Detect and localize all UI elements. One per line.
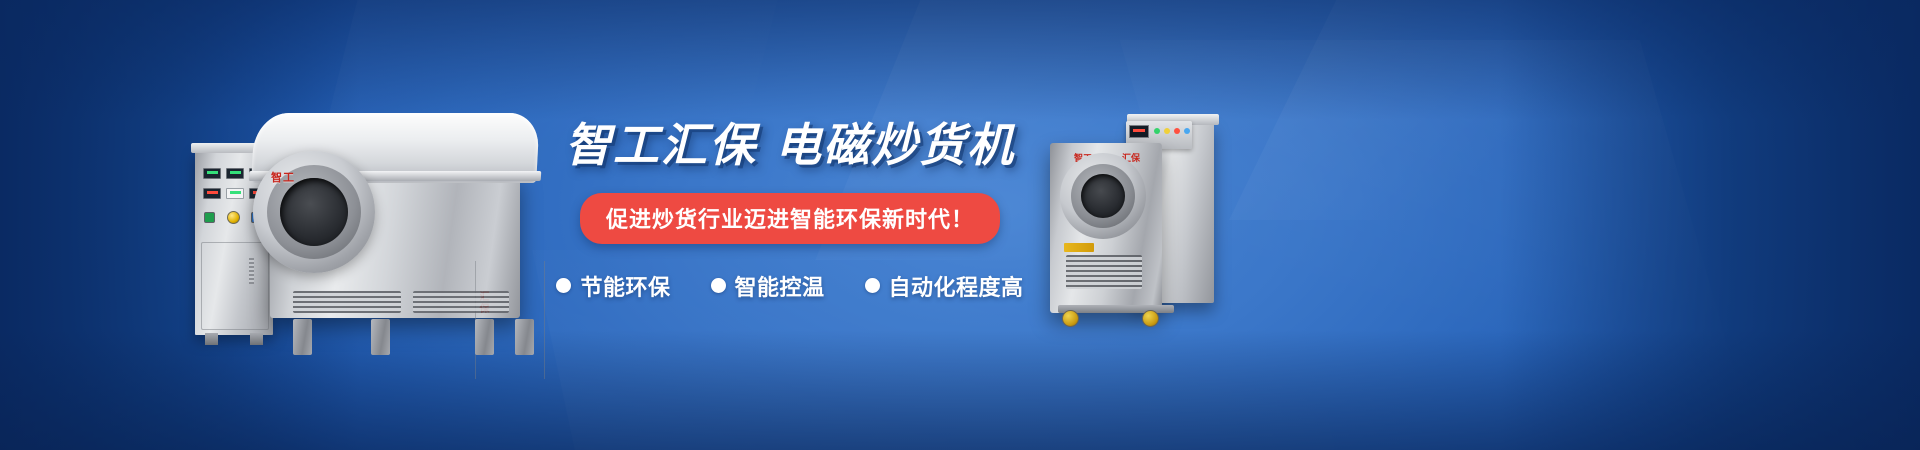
dot-bullet-icon: [711, 278, 726, 293]
promo-banner: 汇保 智工 智工 汇: [0, 0, 1920, 450]
roaster-body-right: 智工 汇保: [1050, 143, 1162, 313]
display-readout: [203, 188, 221, 199]
banner-subtitle-pill: 促进炒货行业迈进智能环保新时代！: [580, 193, 1000, 244]
display-readout: [226, 188, 244, 199]
status-led: [1174, 128, 1180, 134]
banner-title-part1: 智工汇保: [565, 119, 757, 171]
roaster-drum-opening: [1081, 174, 1125, 218]
roaster-vent: [293, 291, 401, 313]
dot-bullet-icon: [865, 278, 880, 293]
feature-item: 节能环保: [556, 270, 670, 302]
cabinet-foot: [205, 333, 218, 345]
feature-label: 智能控温: [735, 270, 825, 302]
roaster-vent: [1066, 255, 1142, 289]
cabinet-door: [201, 242, 269, 330]
roaster-drum-opening: [280, 178, 348, 246]
roaster-leg: [293, 319, 312, 355]
display-readout: [226, 168, 244, 179]
status-led: [1164, 128, 1170, 134]
banner-title: 智工汇保电磁炒货机: [560, 120, 1020, 171]
product-label-plate: [1064, 243, 1094, 252]
roaster-drum-face: [1060, 153, 1146, 239]
caster-wheel: [1142, 310, 1159, 327]
dot-bullet-icon: [556, 278, 571, 293]
product-image-left: 汇保 智工: [175, 95, 575, 355]
roaster-drum-ring: [1071, 164, 1135, 228]
display-readout: [1129, 125, 1149, 138]
caster-wheel: [1062, 310, 1079, 327]
banner-content: 智工汇保电磁炒货机 促进炒货行业迈进智能环保新时代！ 节能环保 智能控温 自动化…: [560, 120, 1020, 302]
roaster-leg: [371, 319, 390, 355]
brand-mark-left: 智工: [271, 169, 295, 185]
roaster-leg: [475, 319, 494, 355]
cabinet-foot: [250, 333, 263, 345]
feature-item: 智能控温: [711, 270, 825, 302]
rotary-knob: [227, 211, 240, 224]
display-readout: [203, 168, 221, 179]
cabinet-vent: [249, 258, 254, 284]
roaster-leg: [515, 319, 534, 355]
product-image-right: 智工 汇保: [1040, 105, 1240, 355]
status-led: [1154, 128, 1160, 134]
feature-label: 自动化程度高: [889, 270, 1024, 302]
feature-item: 自动化程度高: [865, 270, 1024, 302]
feature-list: 节能环保 智能控温 自动化程度高: [560, 270, 1020, 302]
status-led: [1184, 128, 1190, 134]
roaster-vent: [413, 291, 509, 313]
indicator-button: [204, 212, 215, 223]
banner-title-part2: 电磁炒货机: [775, 119, 1015, 171]
feature-label: 节能环保: [580, 270, 670, 302]
